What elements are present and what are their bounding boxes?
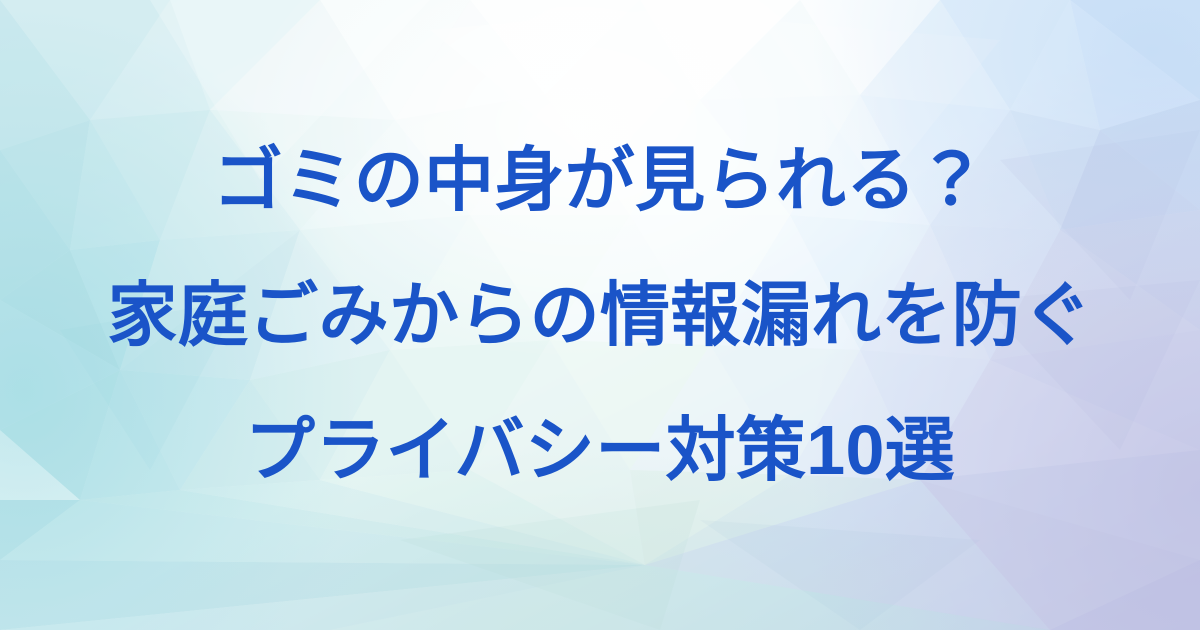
headline-line-2: 家庭ごみからの情報漏れを防ぐ: [108, 248, 1093, 383]
headline-line-3: プライバシー対策10選: [245, 383, 955, 518]
headline-block: ゴミの中身が見られる？ 家庭ごみからの情報漏れを防ぐ プライバシー対策10選: [0, 0, 1200, 630]
headline-line-1: ゴミの中身が見られる？: [213, 113, 987, 248]
title-card: ゴミの中身が見られる？ 家庭ごみからの情報漏れを防ぐ プライバシー対策10選: [0, 0, 1200, 630]
